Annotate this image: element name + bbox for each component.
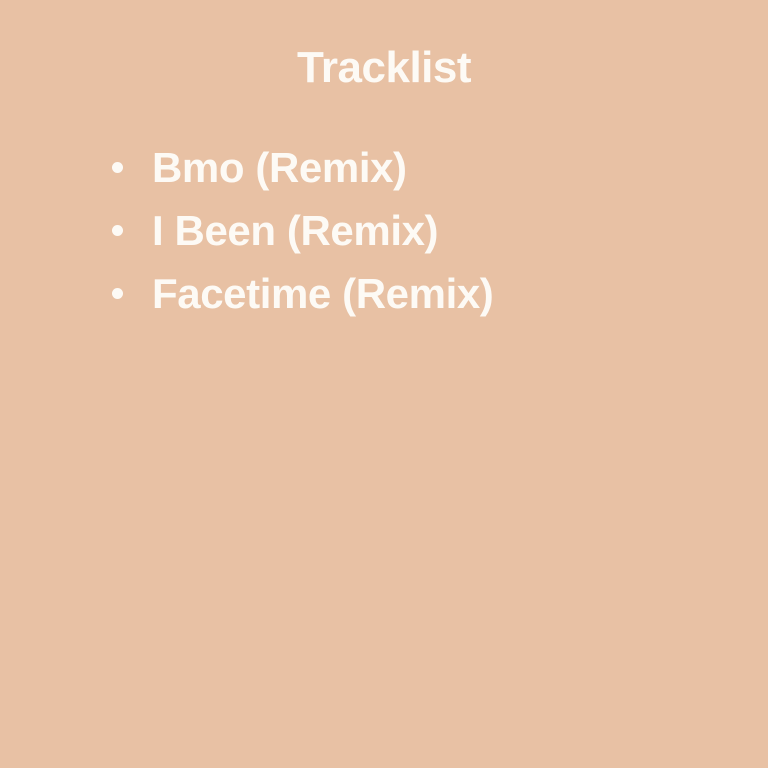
track-title: I Been (Remix) <box>152 210 438 252</box>
tracklist-page: Tracklist Bmo (Remix) I Been (Remix) Fac… <box>0 0 768 768</box>
list-item: Facetime (Remix) <box>112 262 493 325</box>
tracklist: Bmo (Remix) I Been (Remix) Facetime (Rem… <box>112 136 493 325</box>
list-item: Bmo (Remix) <box>112 136 493 199</box>
track-title: Bmo (Remix) <box>152 147 407 189</box>
bullet-dot-icon <box>112 225 123 236</box>
track-title: Facetime (Remix) <box>152 273 493 315</box>
bullet-dot-icon <box>112 288 123 299</box>
page-title: Tracklist <box>0 46 768 90</box>
bullet-dot-icon <box>112 162 123 173</box>
list-item: I Been (Remix) <box>112 199 493 262</box>
